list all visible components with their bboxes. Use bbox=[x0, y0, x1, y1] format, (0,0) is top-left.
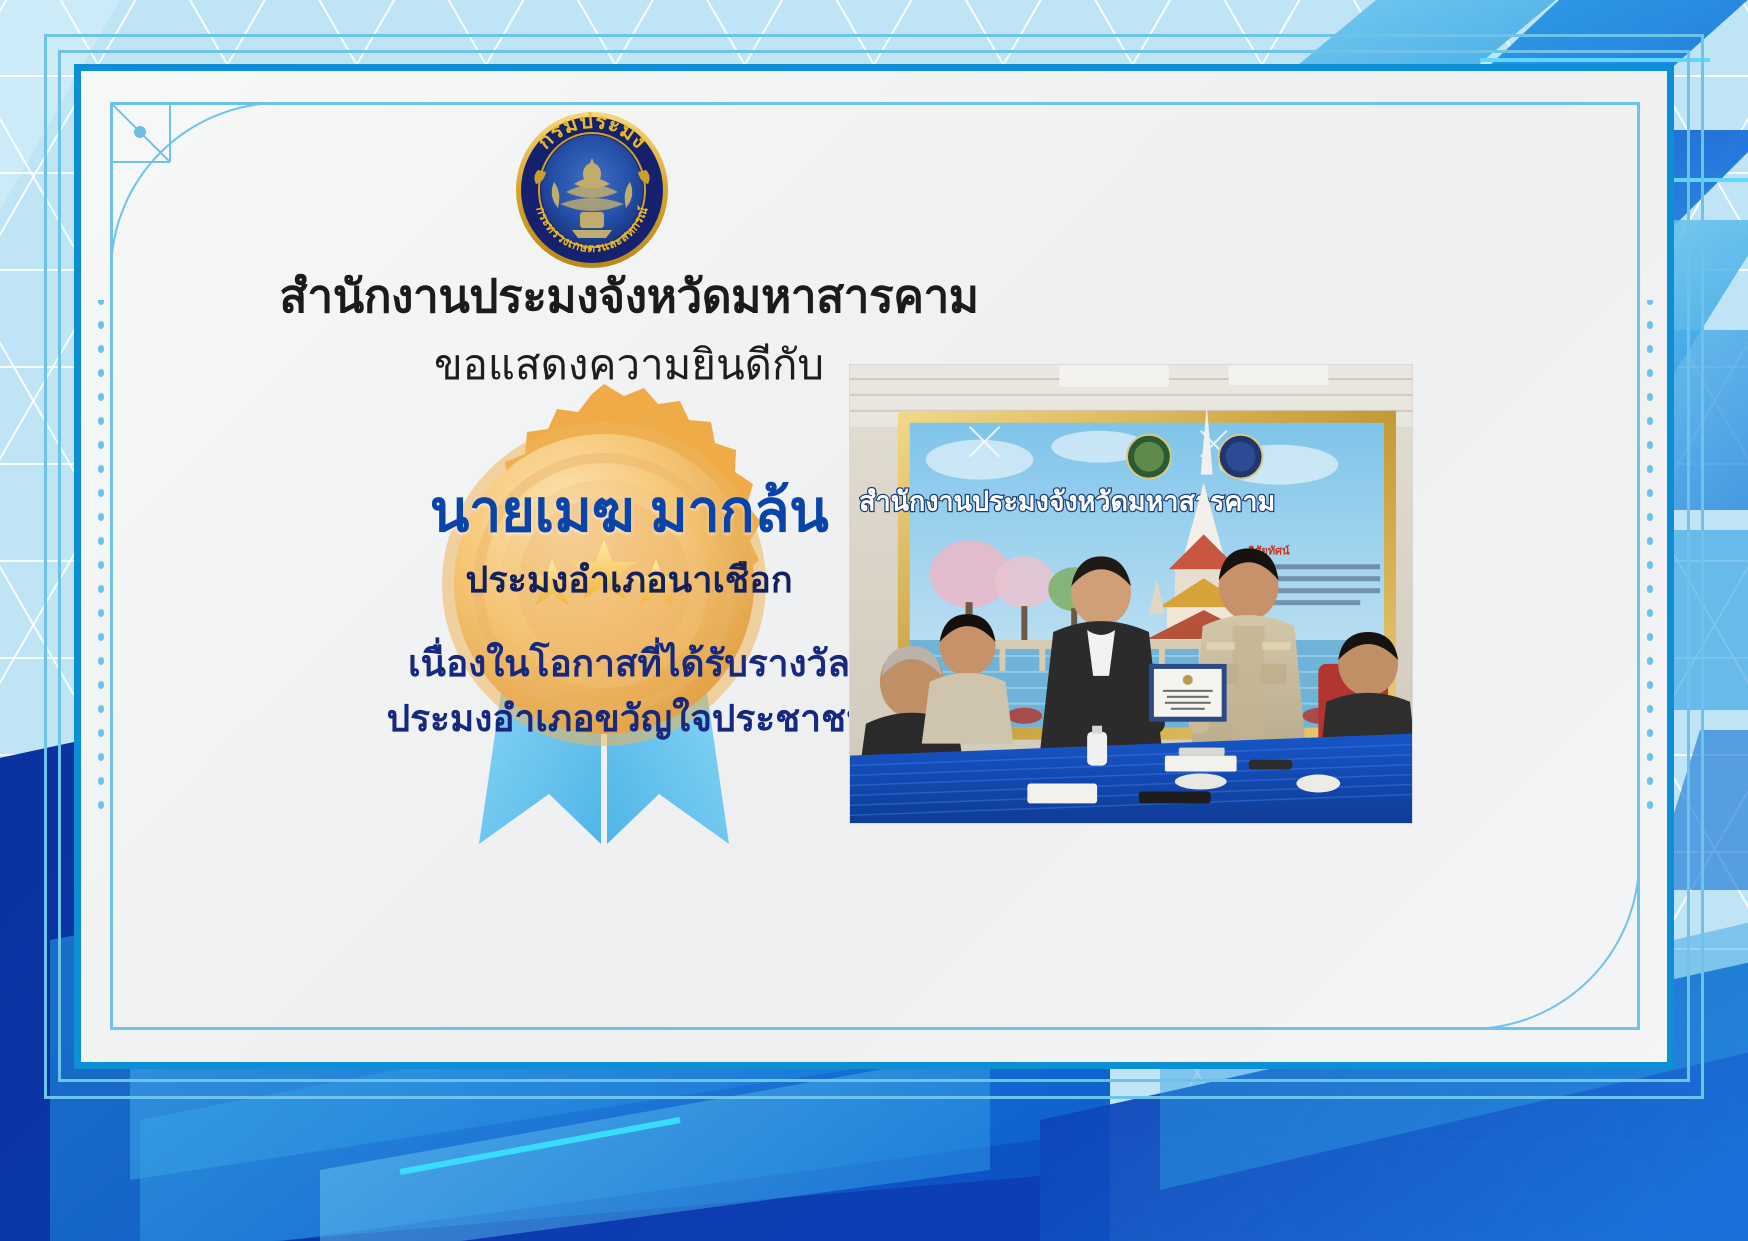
photo-backdrop-title: สำนักงานประมงจังหวัดมหาสารคาม bbox=[859, 486, 1275, 516]
outer-guide-top bbox=[44, 34, 1704, 37]
outer-guide2-right bbox=[1687, 50, 1690, 1082]
outer-guide2-bottom bbox=[58, 1079, 1690, 1082]
outer-guide2-left bbox=[58, 50, 61, 1082]
outer-guide-left bbox=[44, 34, 47, 1099]
gold-award-rosette-icon bbox=[419, 374, 789, 844]
award-ceremony-photo: สำนักงานประมงจังหวัดมหาสารคาม bbox=[849, 364, 1413, 824]
outer-guide2-top bbox=[58, 50, 1690, 53]
department-of-fisheries-seal-icon: กรมประมง กระทรวงเกษตรและสหกรณ์ bbox=[514, 112, 670, 268]
outer-guide-right bbox=[1701, 34, 1704, 1099]
outer-guide-bottom bbox=[44, 1096, 1704, 1099]
certificate bbox=[1149, 664, 1227, 722]
poster-canvas: กรมประมง กระทรวงเกษตรและสหกรณ์ bbox=[0, 0, 1748, 1241]
page-title: สำนักงานประมงจังหวัดมหาสารคาม bbox=[74, 260, 1184, 333]
